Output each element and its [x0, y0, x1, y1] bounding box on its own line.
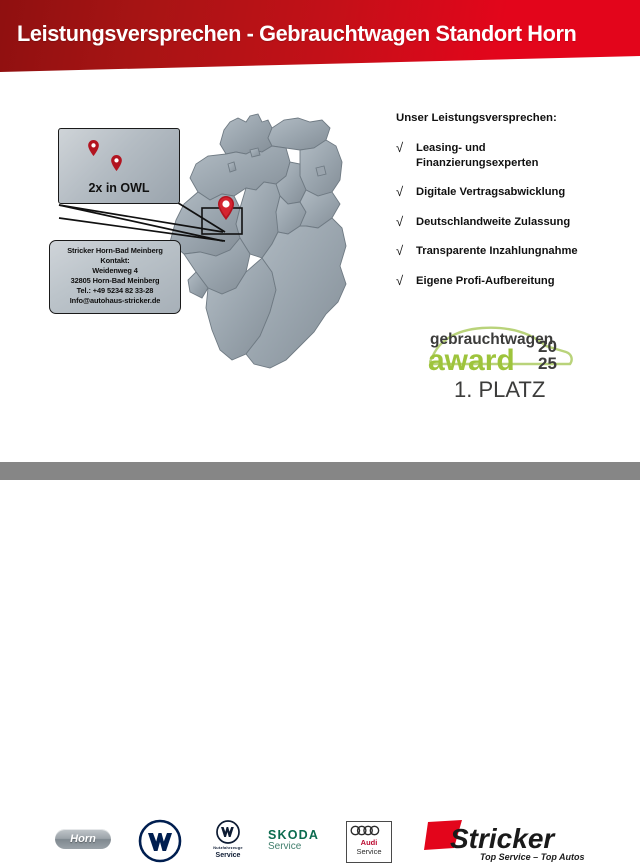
- check-icon: √: [396, 185, 416, 199]
- slide-root: Leistungsversprechen - Gebrauchtwagen St…: [0, 0, 640, 480]
- map-pin-icon: [88, 140, 99, 156]
- brand-logo-bar: Horn Nutzfahrzeuge Service SKODA Service: [0, 404, 640, 480]
- audi-service-logo: Audi Service: [346, 821, 392, 863]
- award-badge-svg: gebrauchtwagen award 20 25 1. PLATZ: [420, 318, 580, 404]
- check-icon: √: [396, 274, 416, 288]
- check-icon: √: [396, 215, 416, 229]
- vw-nfz-line2: Service: [200, 852, 256, 859]
- check-icon: √: [396, 244, 416, 258]
- stricker-logo: Stricker Top Service – Top Autos: [424, 814, 604, 866]
- contact-phone: Tel.: +49 5234 82 33-28: [50, 286, 180, 296]
- audi-rings-icon: [349, 825, 389, 836]
- vw-nfz-line1: Nutzfahrzeuge: [200, 845, 256, 850]
- list-item: √ Transparente Inzahlungnahme: [396, 244, 636, 259]
- award-year-bottom: 25: [538, 354, 557, 373]
- promise-title: Unser Leistungsversprechen:: [396, 112, 636, 124]
- promise-list: Unser Leistungsversprechen: √ Leasing- u…: [396, 112, 636, 303]
- contact-email: Info@autohaus-stricker.de: [50, 296, 180, 306]
- footer-strip: [0, 462, 640, 480]
- list-item: √ Digitale Vertragsabwicklung: [396, 185, 636, 200]
- list-item: √ Deutschlandweite Zulassung: [396, 215, 636, 230]
- owl-callout-label: 2x in OWL: [59, 181, 179, 195]
- contact-street: Weidenweg 4: [50, 266, 180, 276]
- germany-map: [150, 92, 400, 402]
- list-item: √ Leasing- und Finanzierungsexperten: [396, 141, 636, 170]
- map-pin-icon: [111, 155, 122, 171]
- skoda-service-logo: SKODA Service: [268, 828, 336, 858]
- list-item: √ Eigene Profi-Aufbereitung: [396, 274, 636, 289]
- award-rank: 1. PLATZ: [454, 377, 545, 402]
- germany-map-svg: [150, 92, 400, 402]
- award-badge: gebrauchtwagen award 20 25 1. PLATZ: [420, 318, 580, 404]
- stricker-tagline: Top Service – Top Autos: [480, 852, 585, 862]
- contact-kontakt-label: Kontakt:: [50, 256, 180, 266]
- page-title: Leistungsversprechen - Gebrauchtwagen St…: [17, 21, 576, 47]
- stricker-name: Stricker: [450, 823, 556, 854]
- list-item-label: Deutschlandweite Zulassung: [416, 215, 570, 230]
- audi-line2: Service: [347, 847, 391, 856]
- vw-logo-icon: [138, 819, 182, 863]
- list-item-label: Eigene Profi-Aufbereitung: [416, 274, 555, 289]
- contact-name: Stricker Horn-Bad Meinberg: [50, 246, 180, 256]
- owl-callout-box: 2x in OWL: [58, 128, 180, 204]
- list-item-label: Leasing- und Finanzierungsexperten: [416, 141, 538, 170]
- skoda-line2: Service: [268, 841, 336, 852]
- header-banner: Leistungsversprechen - Gebrauchtwagen St…: [0, 0, 640, 72]
- vw-nutzfahrzeuge-service-logo: Nutzfahrzeuge Service: [200, 819, 256, 865]
- list-item-label: Transparente Inzahlungnahme: [416, 244, 578, 259]
- award-word-main: award: [428, 344, 515, 377]
- list-item-label: Digitale Vertragsabwicklung: [416, 185, 565, 200]
- horn-label: Horn: [55, 829, 111, 849]
- contact-box: Stricker Horn-Bad Meinberg Kontakt: Weid…: [49, 240, 181, 314]
- contact-city: 32805 Horn-Bad Meinberg: [50, 276, 180, 286]
- check-icon: √: [396, 141, 416, 155]
- audi-line1: Audi: [347, 838, 391, 847]
- horn-brand-pill: Horn: [55, 829, 111, 849]
- skoda-line1: SKODA: [268, 828, 336, 842]
